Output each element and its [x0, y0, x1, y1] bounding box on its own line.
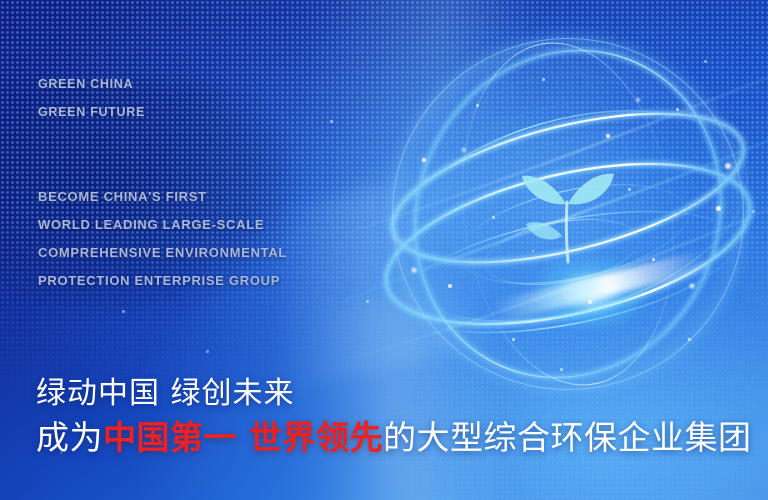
headline-prefix: 成为: [36, 418, 103, 457]
tagline-main-line-2: WORLD LEADING LARGE-SCALE: [38, 211, 287, 239]
tagline-top-line-2: GREEN FUTURE: [38, 98, 145, 126]
headline-suffix: 的大型综合环保企业集团: [383, 418, 752, 457]
tagline-top: GREEN CHINA GREEN FUTURE: [38, 70, 145, 126]
sprout-seedling-icon: [512, 150, 622, 270]
headline-highlight: 中国第一 世界领先: [103, 418, 383, 457]
tagline-main: BECOME CHINA'S FIRST WORLD LEADING LARGE…: [38, 183, 287, 295]
tagline-main-line-3: COMPREHENSIVE ENVIRONMENTAL: [38, 239, 287, 267]
environmental-protection-banner: GREEN CHINA GREEN FUTURE BECOME CHINA'S …: [0, 0, 768, 500]
wireframe-globe-graphic: [392, 38, 744, 390]
headline-line-2: 成为中国第一 世界领先的大型综合环保企业集团: [36, 411, 752, 459]
tagline-top-line-1: GREEN CHINA: [38, 70, 145, 98]
headline-line-1: 绿动中国 绿创未来: [36, 368, 295, 412]
tagline-main-line-4: PROTECTION ENTERPRISE GROUP: [38, 267, 287, 295]
tagline-main-line-1: BECOME CHINA'S FIRST: [38, 183, 287, 211]
